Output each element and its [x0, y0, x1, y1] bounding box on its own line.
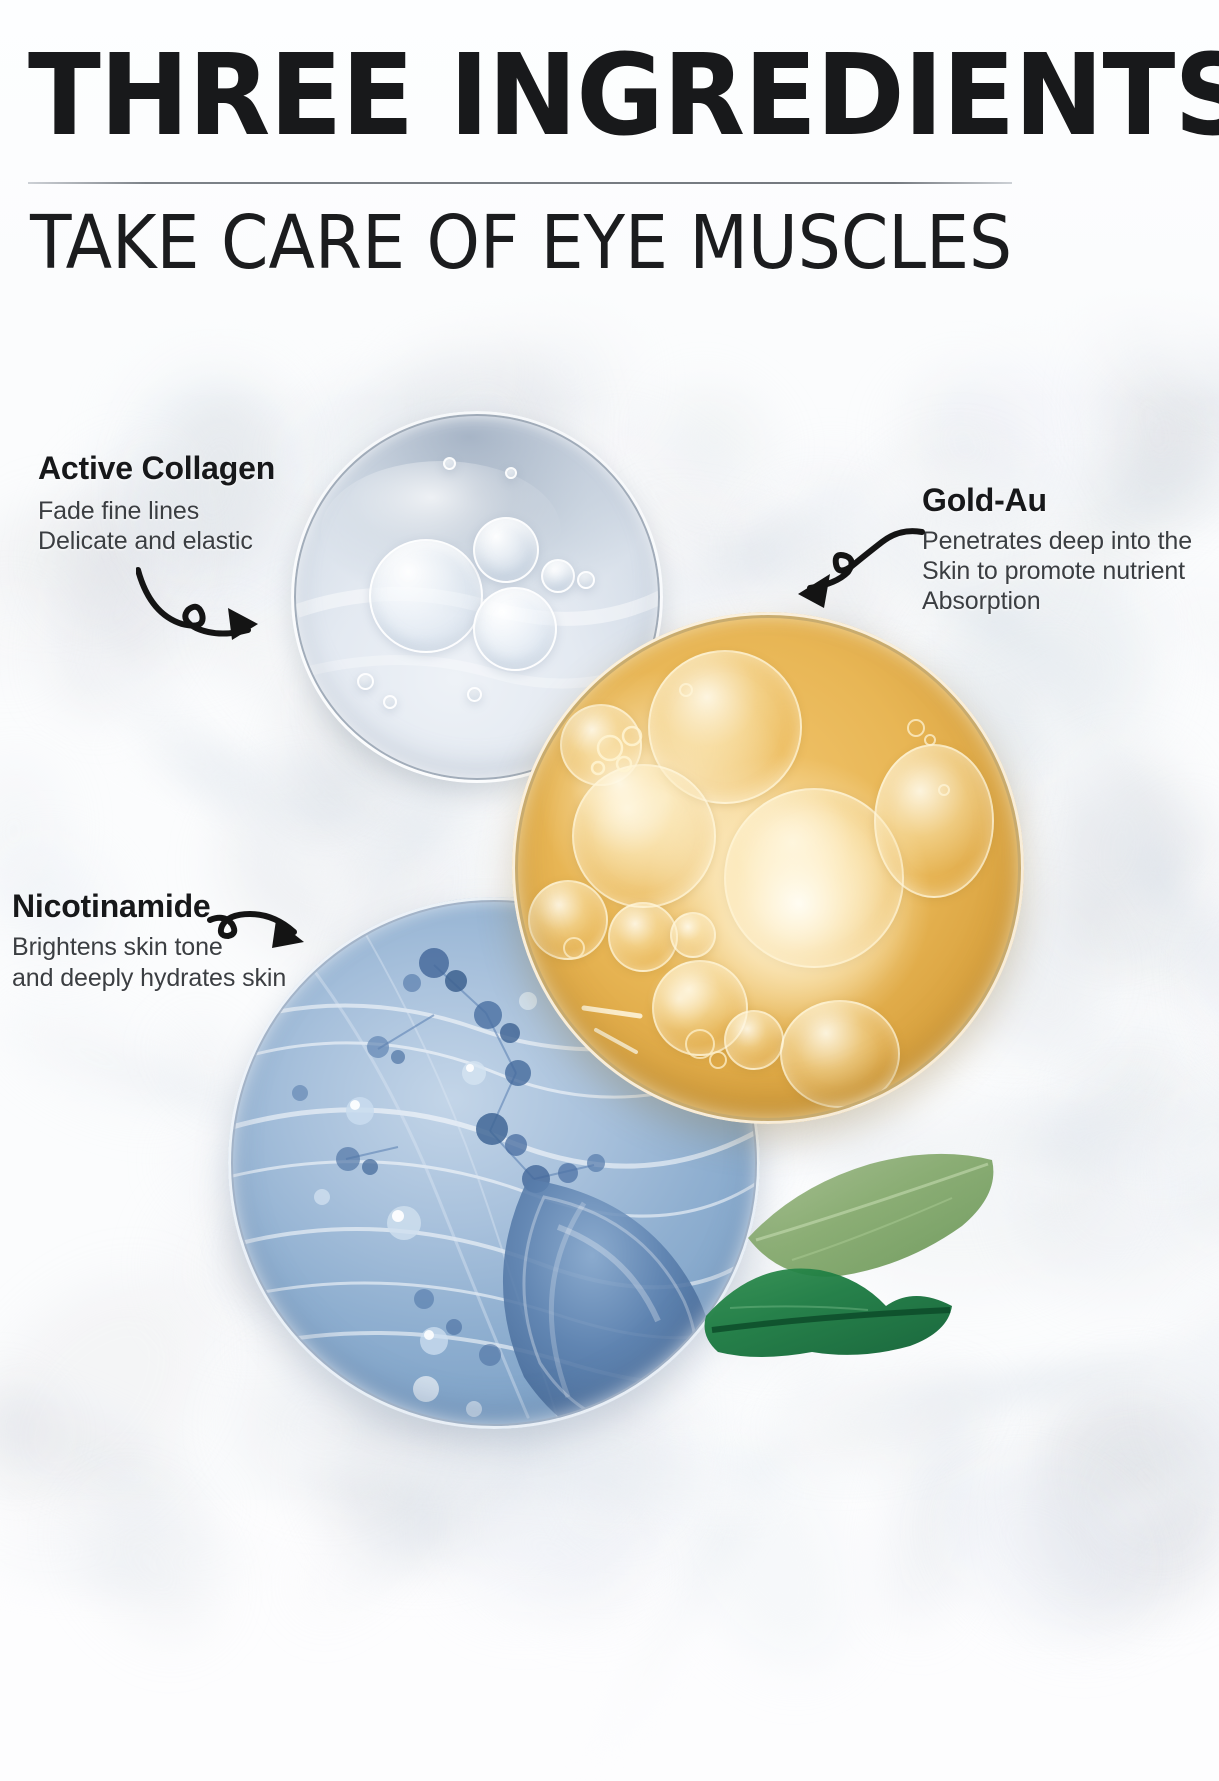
description-line: Fade fine lines — [38, 496, 275, 526]
gel-bubble-tiny — [577, 571, 595, 589]
gold-dish-detail — [512, 612, 1024, 1124]
page-title: THREE INGREDIENTS — [28, 40, 1099, 152]
curly-arrow-left-icon — [778, 526, 928, 626]
title-divider — [28, 182, 1012, 184]
description-line: Absorption — [922, 586, 1192, 616]
page-subtitle: TAKE CARE OF EYE MUSCLES — [30, 206, 1012, 280]
green-leaves — [700, 1120, 1030, 1420]
ingredient-label-gold-au: Gold-Au Penetrates deep into the Skin to… — [922, 480, 1192, 616]
gel-bubble-tiny-6 — [505, 467, 517, 479]
gel-bubble-small — [541, 559, 575, 593]
ingredient-label-active-collagen: Active Collagen Fade fine lines Delicate… — [38, 448, 275, 556]
description-line: Penetrates deep into the — [922, 526, 1192, 556]
gel-bubble-tiny-3 — [383, 695, 397, 709]
gel-bubble-tiny-5 — [443, 457, 456, 470]
ingredient-description-gold-au: Penetrates deep into the Skin to promote… — [922, 526, 1192, 616]
ingredient-name-gold-au: Gold-Au — [922, 480, 1192, 520]
gel-bubble-medium — [473, 517, 539, 583]
gel-bubble-large — [369, 539, 483, 653]
curly-arrow-down-right-icon — [206, 898, 326, 978]
ingredient-description-active-collagen: Fade fine lines Delicate and elastic — [38, 496, 275, 556]
description-line: Skin to promote nutrient — [922, 556, 1192, 586]
gel-bubble-tiny-2 — [357, 673, 374, 690]
description-line: Delicate and elastic — [38, 526, 275, 556]
gel-bubble-tiny-4 — [467, 687, 482, 702]
ingredient-name-active-collagen: Active Collagen — [38, 448, 275, 488]
gold-petri-dish — [512, 612, 1024, 1124]
curly-arrow-right-icon — [136, 562, 296, 662]
